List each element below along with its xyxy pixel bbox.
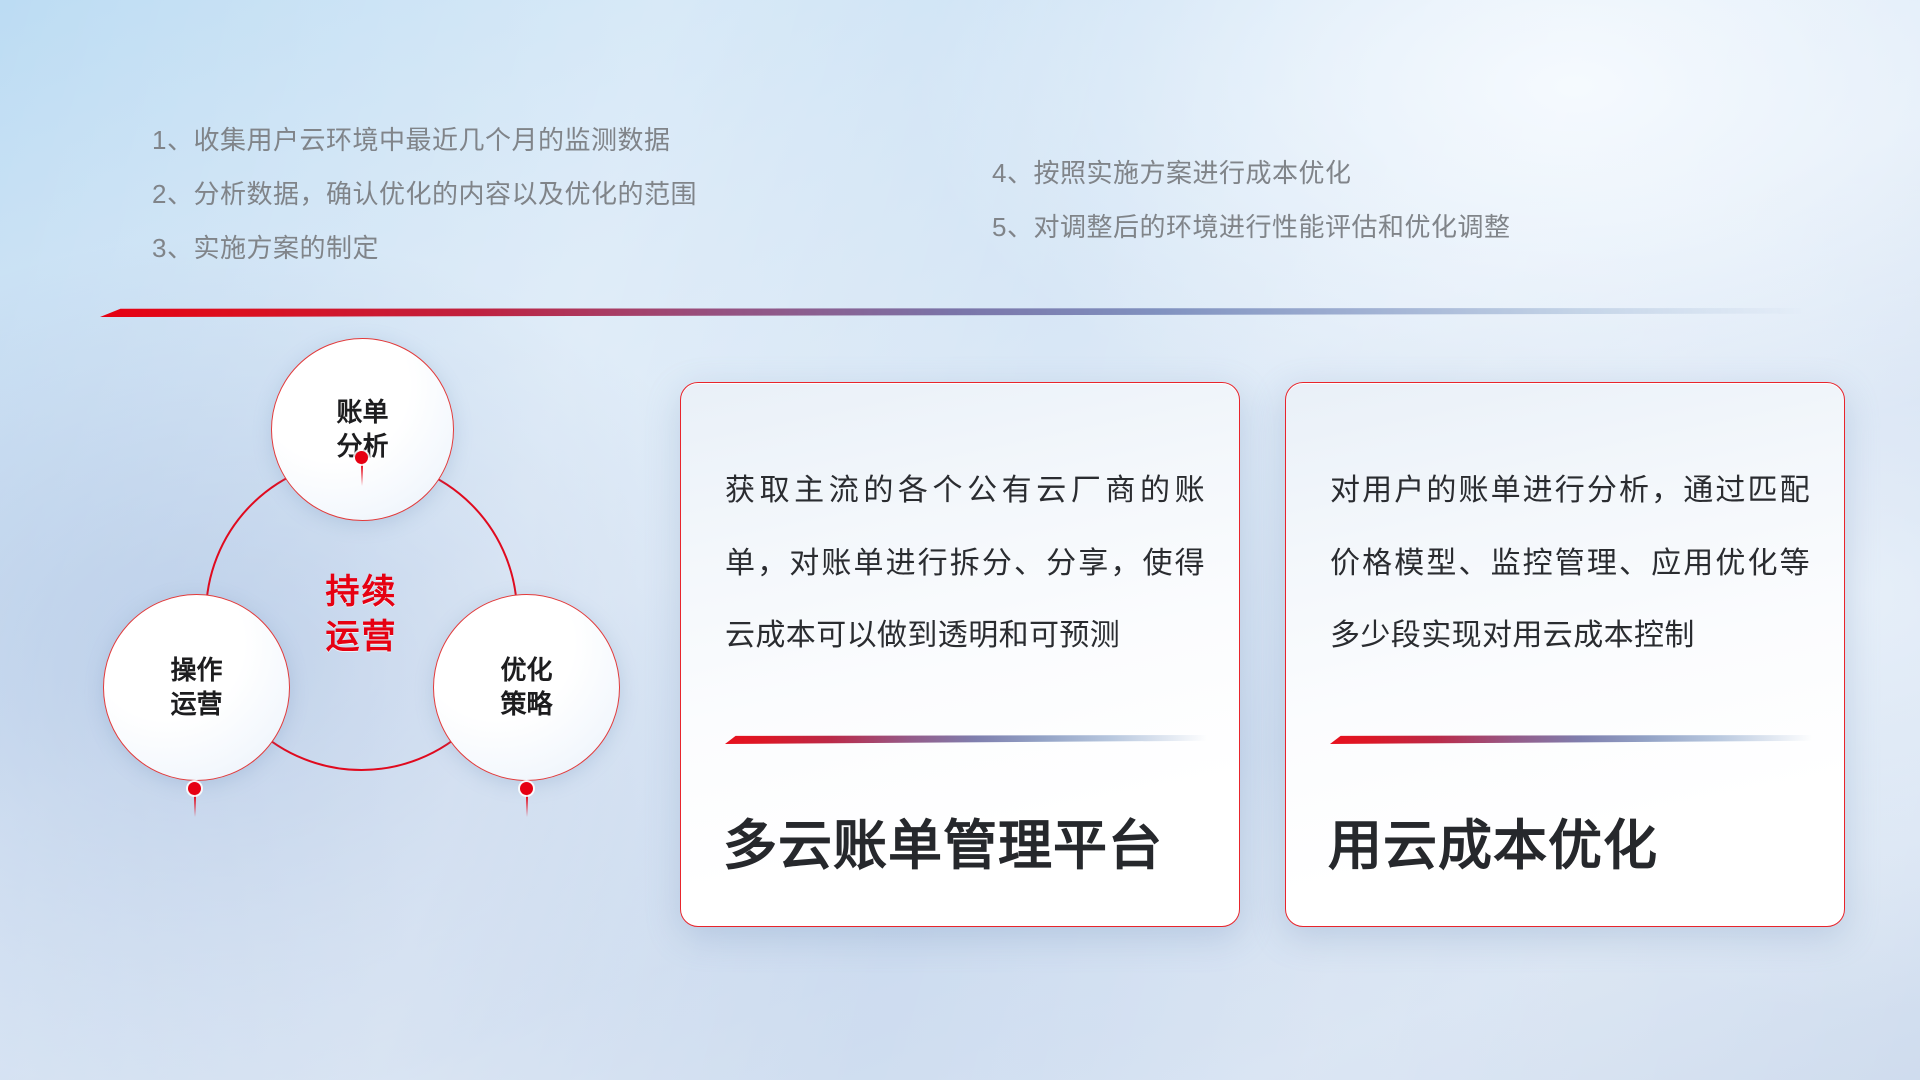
top-divider-rule [100, 308, 1805, 317]
steps-right-column: 4、按照实施方案进行成本优化 5、对调整后的环境进行性能评估和优化调整 [992, 160, 1510, 268]
node-dot-left [188, 782, 201, 795]
slide-canvas: 1、收集用户云环境中最近几个月的监测数据 2、分析数据，确认优化的内容以及优化的… [0, 0, 1920, 1080]
step-item-1: 1、收集用户云环境中最近几个月的监测数据 [152, 127, 697, 153]
step-item-5: 5、对调整后的环境进行性能评估和优化调整 [992, 214, 1510, 240]
card-body-text: 对用户的账单进行分析，通过匹配价格模型、监控管理、应用优化等多少段实现对用云成本… [1330, 455, 1810, 673]
center-label-line-1: 持续 [326, 570, 398, 614]
step-item-2: 2、分析数据，确认优化的内容以及优化的范围 [152, 181, 697, 207]
center-label-line-2: 运营 [326, 615, 398, 659]
steps-left-column: 1、收集用户云环境中最近几个月的监测数据 2、分析数据，确认优化的内容以及优化的… [152, 127, 697, 289]
node-connector-top [361, 464, 363, 486]
node-label-line-1: 操作 [170, 654, 222, 687]
node-dot-right [520, 782, 533, 795]
continuous-operation-diagram: 持续 运营 账单 分析 操作 运营 优化 策略 [95, 350, 655, 950]
node-connector-left [194, 795, 196, 817]
step-item-4: 4、按照实施方案进行成本优化 [992, 160, 1510, 186]
node-connector-right [526, 795, 528, 817]
step-item-3: 3、实施方案的制定 [152, 235, 697, 261]
card-body-text: 获取主流的各个公有云厂商的账单，对账单进行拆分、分享，使得云成本可以做到透明和可… [725, 455, 1205, 673]
card-cloud-cost-optimization[interactable]: 对用户的账单进行分析，通过匹配价格模型、监控管理、应用优化等多少段实现对用云成本… [1285, 382, 1845, 927]
card-multicloud-billing-platform[interactable]: 获取主流的各个公有云厂商的账单，对账单进行拆分、分享，使得云成本可以做到透明和可… [680, 382, 1240, 927]
diagram-node-operation[interactable]: 操作 运营 [103, 594, 290, 781]
card-title: 多云账单管理平台 [723, 801, 1163, 880]
card-divider-rule [725, 735, 1207, 744]
diagram-node-bill-analysis[interactable]: 账单 分析 [271, 338, 454, 521]
node-label-line-1: 优化 [500, 654, 552, 687]
diagram-node-optimization-strategy[interactable]: 优化 策略 [433, 594, 620, 781]
card-title: 用云成本优化 [1328, 801, 1658, 880]
node-label-line-2: 策略 [500, 688, 552, 721]
node-label-line-1: 账单 [336, 396, 388, 429]
card-divider-rule [1330, 735, 1812, 744]
node-dot-top [355, 451, 368, 464]
node-label-line-2: 运营 [170, 688, 222, 721]
